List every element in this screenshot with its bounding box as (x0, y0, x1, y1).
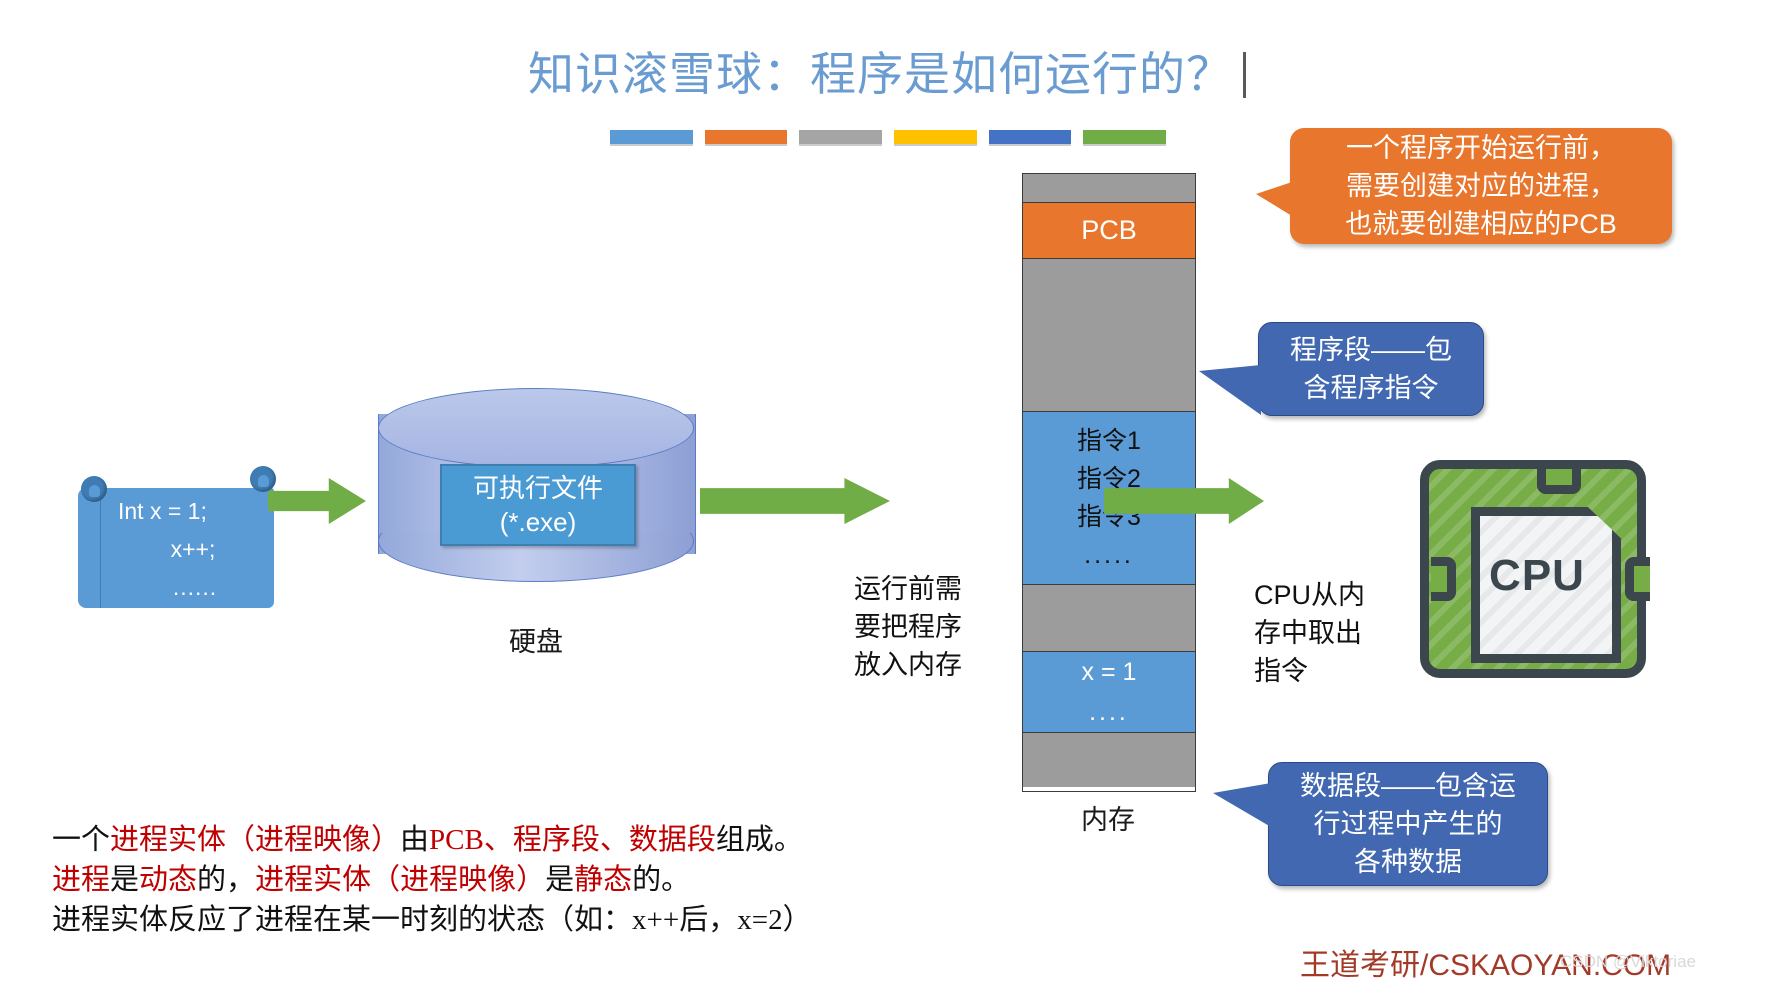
summary-run: 一个 (52, 824, 110, 856)
memory-free-1 (1023, 259, 1195, 411)
text-cursor (1243, 52, 1246, 98)
page-title-text: 知识滚雪球：程序是如何运行的？ (528, 49, 1233, 100)
code-line-2: x++; (104, 530, 272, 568)
callout-program-line-2: 含程序指令 (1290, 369, 1452, 407)
hard-disk-caption: 硬盘 (378, 620, 694, 659)
data-line-value: x = 1 (1082, 652, 1137, 692)
scroll-left-edge (78, 488, 101, 608)
summary-run: 进程实体（进程映像） (110, 824, 400, 856)
summary-text: 一个进程实体（进程映像）由PCB、程序段、数据段组成。 进程是动态的，进程实体（… (52, 820, 932, 940)
summary-run: PCB、程序段、数据段 (429, 824, 716, 856)
title-bar-5 (1083, 130, 1166, 144)
hard-disk-cylinder: 可执行文件 (*.exe) (378, 388, 694, 580)
callout-program-segment: 程序段——包 含程序指令 (1258, 322, 1484, 416)
slide-canvas: 知识滚雪球：程序是如何运行的？ Int x = 1; x++; ...... 可… (0, 0, 1774, 990)
title-bar-3 (894, 130, 977, 144)
title-bar-0 (610, 130, 693, 144)
fetch-label-line-1: CPU从内 (1254, 576, 1424, 614)
csdn-credit-watermark: CSDN @Viktoriae (1560, 952, 1696, 972)
load-label-line-1: 运行前需 (828, 570, 988, 608)
scroll-code-text: Int x = 1; x++; ...... (104, 492, 272, 606)
memory-data-segment: x = 1 .... (1023, 651, 1195, 733)
load-label-line-2: 要把程序 (828, 608, 988, 646)
load-label-line-3: 放入内存 (828, 646, 988, 684)
data-line-ellipsis: .... (1089, 692, 1129, 732)
load-to-memory-label: 运行前需 要把程序 放入内存 (828, 570, 988, 684)
summary-run: 动态 (139, 864, 197, 896)
callout-data-segment: 数据段——包含运 行过程中产生的 各种数据 (1268, 762, 1548, 886)
summary-run: 静态 (574, 864, 632, 896)
title-bar-2 (799, 130, 882, 144)
callout-pcb-line-2: 需要创建对应的进程， (1345, 167, 1617, 205)
summary-line-1: 一个进程实体（进程映像）由PCB、程序段、数据段组成。 (52, 820, 932, 860)
memory-caption: 内存 (1022, 798, 1194, 837)
source-code-scroll: Int x = 1; x++; ...... (78, 478, 278, 618)
exe-label-line1: 可执行文件 (473, 471, 603, 505)
summary-run: 由 (400, 824, 429, 856)
cpu-notch-right (1625, 557, 1650, 601)
callout-data-line-1: 数据段——包含运 (1300, 767, 1516, 805)
fetch-label-line-3: 指令 (1254, 652, 1424, 690)
page-title: 知识滚雪球：程序是如何运行的？ (0, 38, 1774, 104)
memory-free-top (1023, 174, 1195, 202)
code-line-instr-1: 指令1 (1077, 422, 1141, 460)
executable-file-box: 可执行文件 (*.exe) (440, 464, 636, 546)
callout-data-segment-tail (1213, 783, 1271, 827)
cpu-label: CPU (1471, 507, 1603, 645)
memory-pcb-block: PCB (1023, 202, 1195, 259)
callout-pcb-line-1: 一个程序开始运行前， (1345, 129, 1617, 167)
summary-run: 进程实体反应了进程在某一时刻的状态（如：x++后，x=2） (52, 904, 812, 936)
exe-label-line2: (*.exe) (500, 505, 577, 539)
pcb-label: PCB (1081, 215, 1137, 246)
summary-run: 的。 (632, 864, 690, 896)
summary-run: 进程 (52, 864, 110, 896)
memory-free-2 (1023, 585, 1195, 651)
memory-column: PCB 指令1 指令2 指令3 ..... x = 1 .... (1022, 173, 1196, 792)
code-line-1: Int x = 1; (104, 492, 272, 530)
arrow-load-to-memory (700, 478, 890, 524)
fetch-label-line-2: 存中取出 (1254, 614, 1424, 652)
callout-data-line-3: 各种数据 (1300, 843, 1516, 881)
title-bar-1 (705, 130, 788, 144)
summary-line-3: 进程实体反应了进程在某一时刻的状态（如：x++后，x=2） (52, 900, 932, 940)
scroll-curl-top-right (250, 466, 276, 492)
summary-run: 是 (110, 864, 139, 896)
arrow-compile (268, 478, 366, 524)
callout-pcb-line-3: 也就要创建相应的PCB (1345, 205, 1617, 243)
fetch-instruction-label: CPU从内 存中取出 指令 (1254, 576, 1424, 690)
code-line-3: ...... (104, 568, 272, 606)
code-line-ellipsis: ..... (1084, 536, 1134, 574)
cpu-chip-body: CPU (1420, 460, 1646, 678)
summary-run: 组成。 (716, 824, 803, 856)
memory-free-bottom (1023, 733, 1195, 787)
summary-line-2: 进程是动态的，进程实体（进程映像）是静态的。 (52, 860, 932, 900)
title-underline-bars (610, 130, 1166, 146)
cylinder-top (378, 388, 694, 468)
summary-run: 的， (197, 864, 255, 896)
summary-run: 是 (545, 864, 574, 896)
cpu-icon: CPU (1410, 452, 1640, 670)
callout-data-line-2: 行过程中产生的 (1300, 805, 1516, 843)
callout-program-segment-tail (1199, 365, 1261, 415)
title-bar-4 (989, 130, 1072, 144)
callout-pcb: 一个程序开始运行前， 需要创建对应的进程， 也就要创建相应的PCB (1290, 128, 1672, 244)
cpu-notch-left (1431, 557, 1456, 601)
cpu-notch-top (1537, 469, 1581, 494)
callout-pcb-tail (1256, 182, 1292, 216)
callout-program-line-1: 程序段——包 (1290, 331, 1452, 369)
summary-run: 进程实体（进程映像） (255, 864, 545, 896)
